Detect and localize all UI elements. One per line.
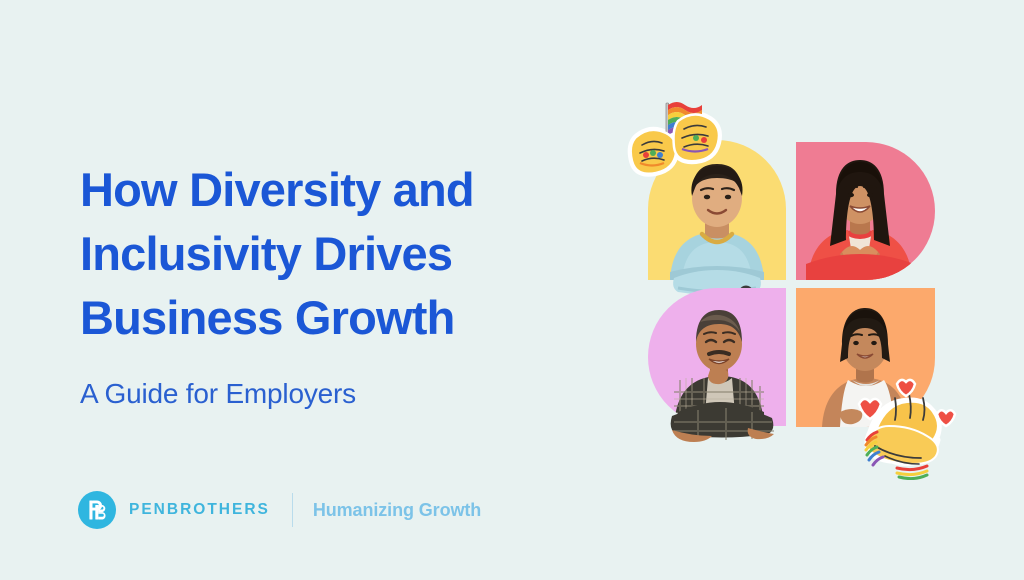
person-photo-pink-jacket	[796, 142, 935, 280]
brand-tagline: Humanizing Growth	[313, 500, 481, 521]
headline-line-3: Business Growth	[80, 286, 600, 350]
brand-logo-lockup[interactable]: PENBROTHERS Humanizing Growth	[78, 489, 481, 531]
headline-line-1: How Diversity and	[80, 158, 600, 222]
photo-collage	[645, 138, 940, 458]
pride-flag-fists-icon	[620, 93, 735, 198]
collage-tile-violet	[648, 288, 786, 426]
text-block: How Diversity and Inclusivity Drives Bus…	[80, 158, 600, 411]
penbrothers-logo-icon	[78, 491, 116, 529]
clapping-hands-icon	[851, 370, 961, 480]
headline-line-2: Inclusivity Drives	[80, 222, 600, 286]
logo-divider	[292, 493, 293, 527]
person-photo-plaid-shirt	[648, 288, 786, 426]
page-subtitle: A Guide for Employers	[80, 376, 600, 411]
page-title: How Diversity and Inclusivity Drives Bus…	[80, 158, 600, 350]
brand-wordmark: PENBROTHERS	[129, 501, 270, 519]
blog-banner: How Diversity and Inclusivity Drives Bus…	[0, 0, 1024, 580]
collage-tile-pink	[796, 142, 935, 280]
